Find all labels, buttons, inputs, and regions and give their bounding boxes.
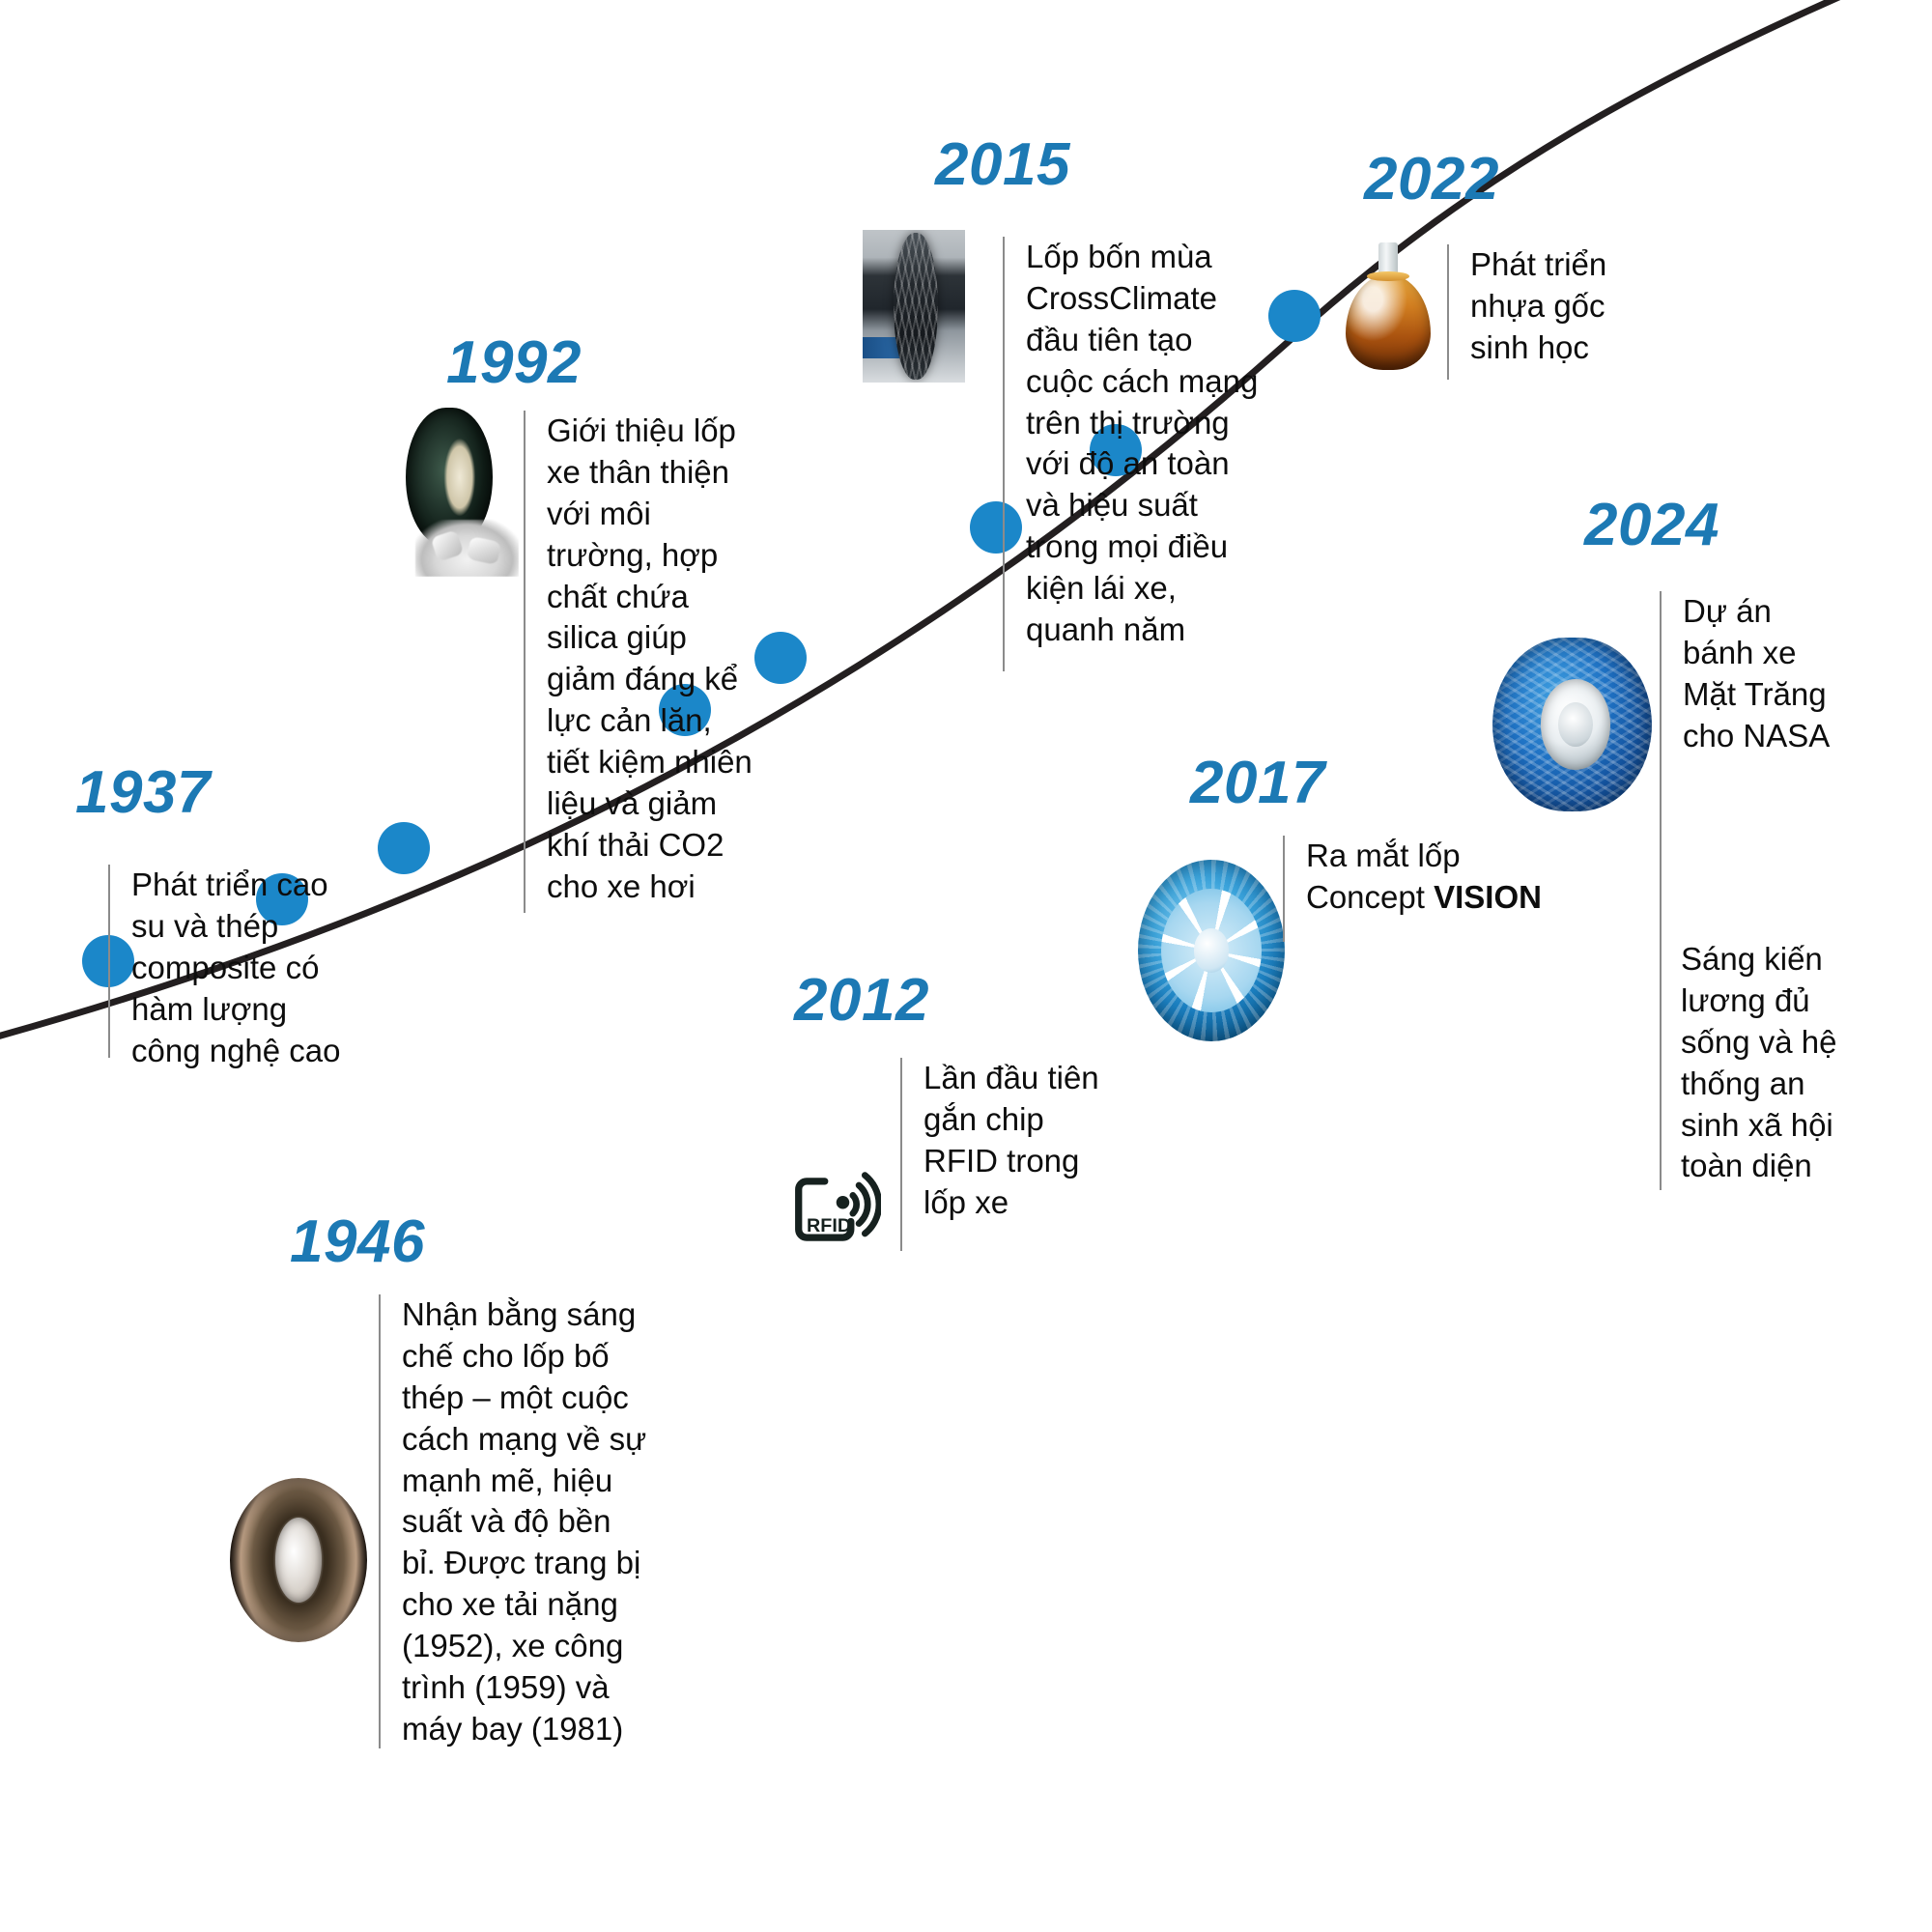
timeline-marker-1992[interactable] [378,822,430,874]
crossclimate-tire-photo [863,230,965,383]
year-label-2012: 2012 [794,971,929,1031]
event-text-2017-bold: VISION [1434,879,1542,915]
vision-concept-tire-photo [1138,860,1285,1041]
year-label-2017: 2017 [1190,753,1325,813]
timeline-infographic: 1937 Phát triển cao su và thép composite… [0,0,1932,1932]
nasa-moon-wheel-photo [1492,638,1652,811]
green-tire-with-silica-photo [401,408,519,577]
year-label-1992: 1992 [446,333,582,393]
event-text-2017: Ra mắt lốp Concept VISION [1283,836,1563,942]
event-text-2012: Lần đầu tiên gắn chip RFID trong lốp xe [900,1058,1142,1251]
year-label-2022: 2022 [1364,150,1499,210]
event-text-2024-secondary: Sáng kiến lương đủ sống và hệ thống an s… [1681,939,1922,1209]
year-label-1937: 1937 [75,763,211,823]
year-label-2024: 2024 [1584,496,1719,555]
rfid-icon: RFID [781,1159,881,1260]
year-label-1946: 1946 [290,1212,425,1272]
event-text-2015: Lốp bốn mùa CrossClimate đầu tiên tạo cu… [1003,237,1293,671]
rfid-icon-label: RFID [807,1215,851,1236]
year-label-2015: 2015 [935,135,1070,195]
event-text-1992: Giới thiệu lốp xe thân thiện với môi trư… [524,411,794,913]
steel-belt-tire-photo [230,1478,367,1642]
bio-based-flask-photo [1335,240,1441,373]
event-text-1946: Nhận bằng sáng chế cho lốp bố thép – một… [379,1294,668,1748]
event-text-2022: Phát triển nhựa gốc sinh học [1447,244,1669,380]
event-text-1937: Phát triển cao su và thép composite có h… [108,865,359,1058]
